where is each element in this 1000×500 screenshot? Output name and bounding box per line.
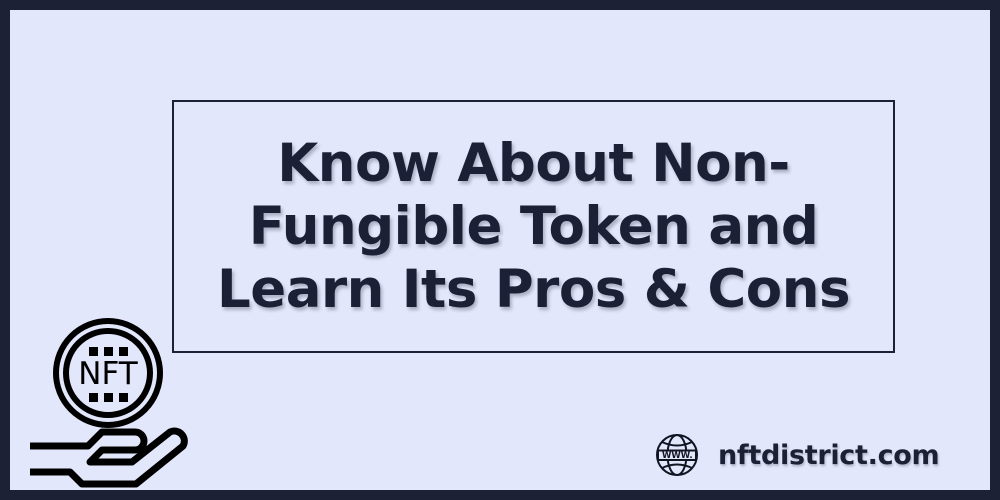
nft-coin-in-hand-icon: NFT [30,310,195,490]
brand-website-text: nftdistrict.com [718,440,939,471]
banner-canvas: Know About Non- Fungible Token and Learn… [10,10,990,490]
coin-top-dots [89,347,128,356]
hand-palm-shape [30,431,184,484]
title-box: Know About Non- Fungible Token and Learn… [172,100,895,353]
globe-www-icon: WWW. [653,431,701,479]
banner-frame: Know About Non- Fungible Token and Learn… [0,0,1000,500]
page-title: Know About Non- Fungible Token and Learn… [211,132,856,321]
globe-www-label: WWW. [662,451,693,461]
coin-nft-label: NFT [78,356,138,392]
coin-bottom-dots [89,393,128,402]
brand-footer: WWW. nftdistrict.com [653,431,939,479]
